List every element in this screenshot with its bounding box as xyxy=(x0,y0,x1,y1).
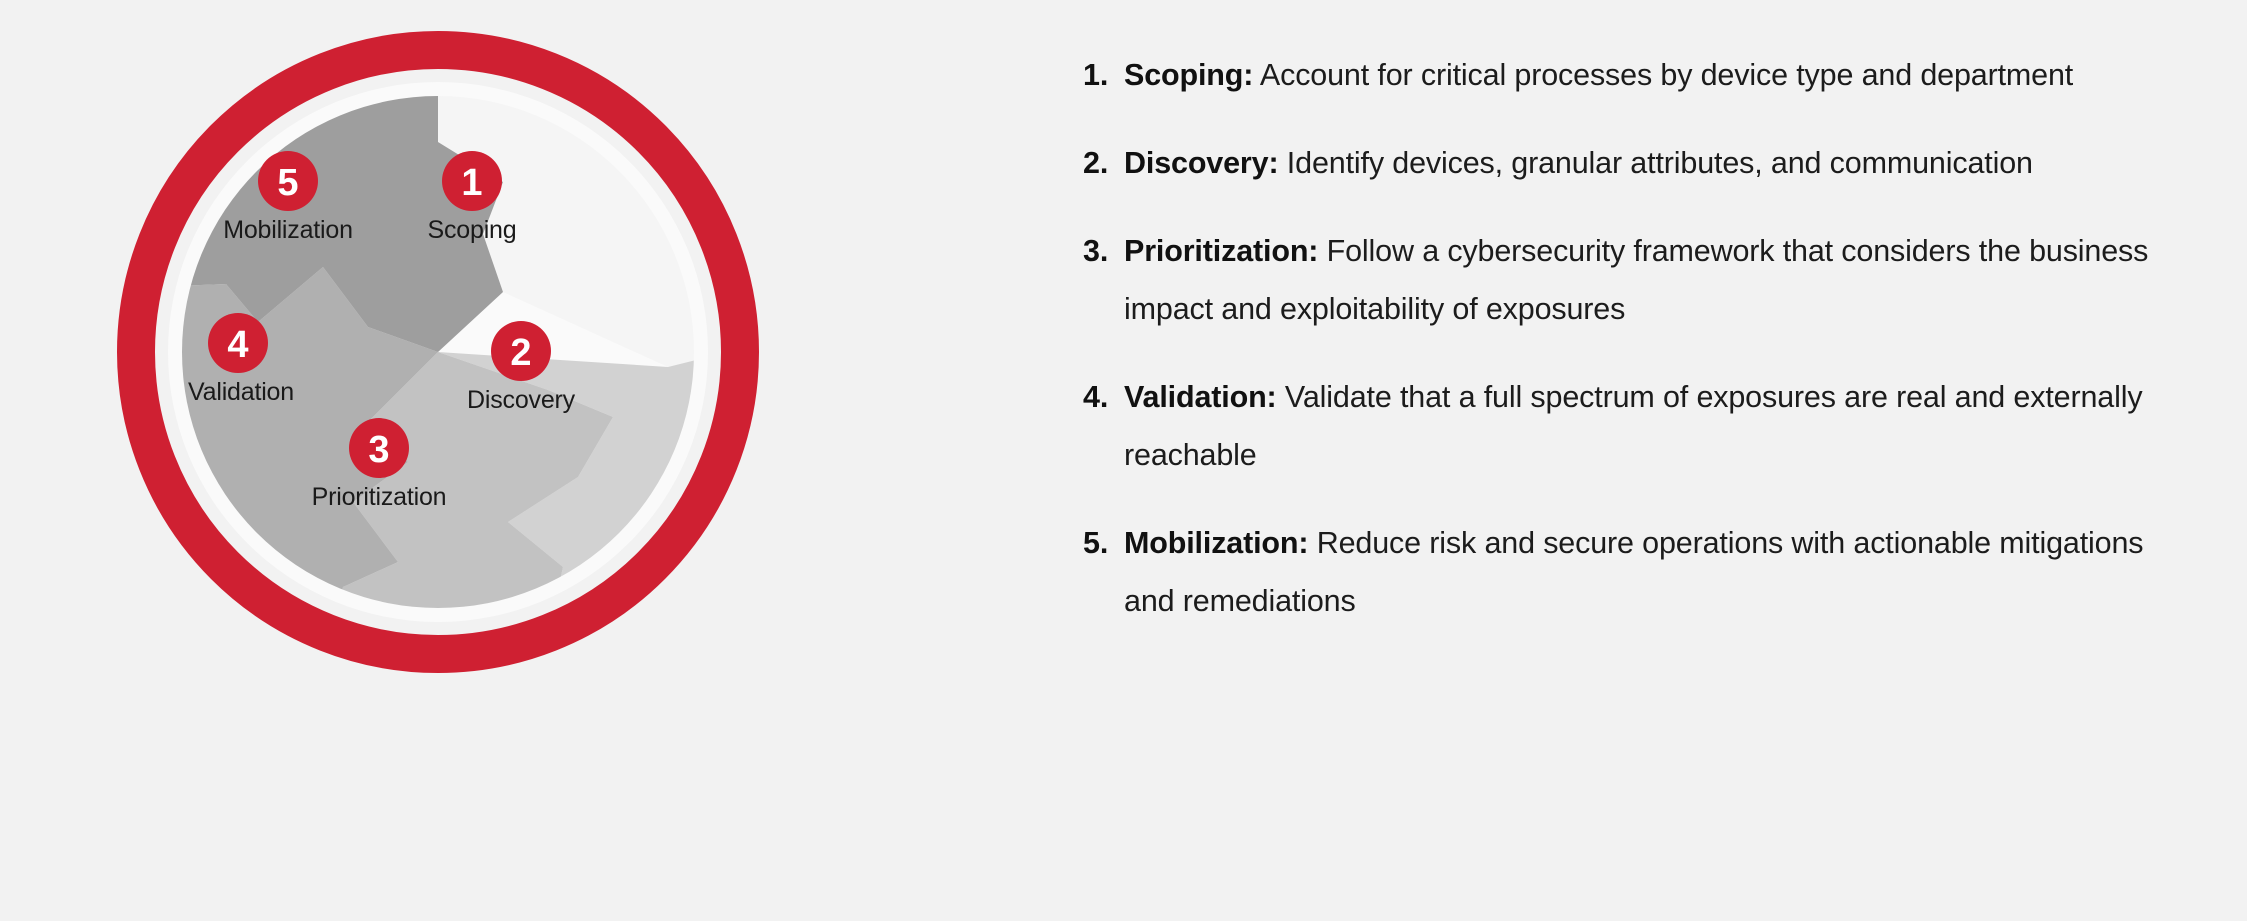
cycle-wheel: 1 Scoping 2 Discovery 3 Prioritization 4… xyxy=(108,22,768,898)
segment-label-prioritization: Prioritization xyxy=(312,483,447,511)
badge-4-number: 4 xyxy=(227,324,248,366)
steps-list: 1.Scoping: Account for critical processe… xyxy=(1083,46,2173,630)
list-item-number: 3. xyxy=(1083,222,1108,280)
list-item: 1.Scoping: Account for critical processe… xyxy=(1083,46,2173,104)
list-item-body: Validate that a full spectrum of exposur… xyxy=(1124,380,2142,472)
badge-2-number: 2 xyxy=(510,332,531,374)
list-item-body: Account for critical processes by device… xyxy=(1253,58,2073,92)
badge-3-number: 3 xyxy=(368,429,389,471)
segment-label-mobilization: Mobilization xyxy=(223,216,353,244)
list-item: 2.Discovery: Identify devices, granular … xyxy=(1083,134,2173,192)
segment-label-discovery: Discovery xyxy=(467,386,576,414)
list-item-number: 2. xyxy=(1083,134,1108,192)
badge-5-number: 5 xyxy=(277,162,298,204)
segment-label-scoping: Scoping xyxy=(428,216,517,244)
list-item-number: 4. xyxy=(1083,368,1108,426)
list-item-term: Mobilization: xyxy=(1124,526,1308,560)
infographic-root: 1 Scoping 2 Discovery 3 Prioritization 4… xyxy=(0,0,2247,921)
badge-1-number: 1 xyxy=(461,162,482,204)
list-item: 4.Validation: Validate that a full spect… xyxy=(1083,368,2173,484)
list-item-number: 1. xyxy=(1083,46,1108,104)
list-item-term: Prioritization: xyxy=(1124,234,1318,268)
cycle-wheel-svg: 1 Scoping 2 Discovery 3 Prioritization 4… xyxy=(108,22,768,682)
list-item: 3.Prioritization: Follow a cybersecurity… xyxy=(1083,222,2173,338)
list-item-term: Validation: xyxy=(1124,380,1277,414)
list-item-number: 5. xyxy=(1083,514,1108,572)
list-item: 5.Mobilization: Reduce risk and secure o… xyxy=(1083,514,2173,630)
list-item-term: Discovery: xyxy=(1124,146,1278,180)
list-item-term: Scoping: xyxy=(1124,58,1253,92)
segment-label-validation: Validation xyxy=(188,378,294,406)
list-item-body: Identify devices, granular attributes, a… xyxy=(1278,146,2032,180)
